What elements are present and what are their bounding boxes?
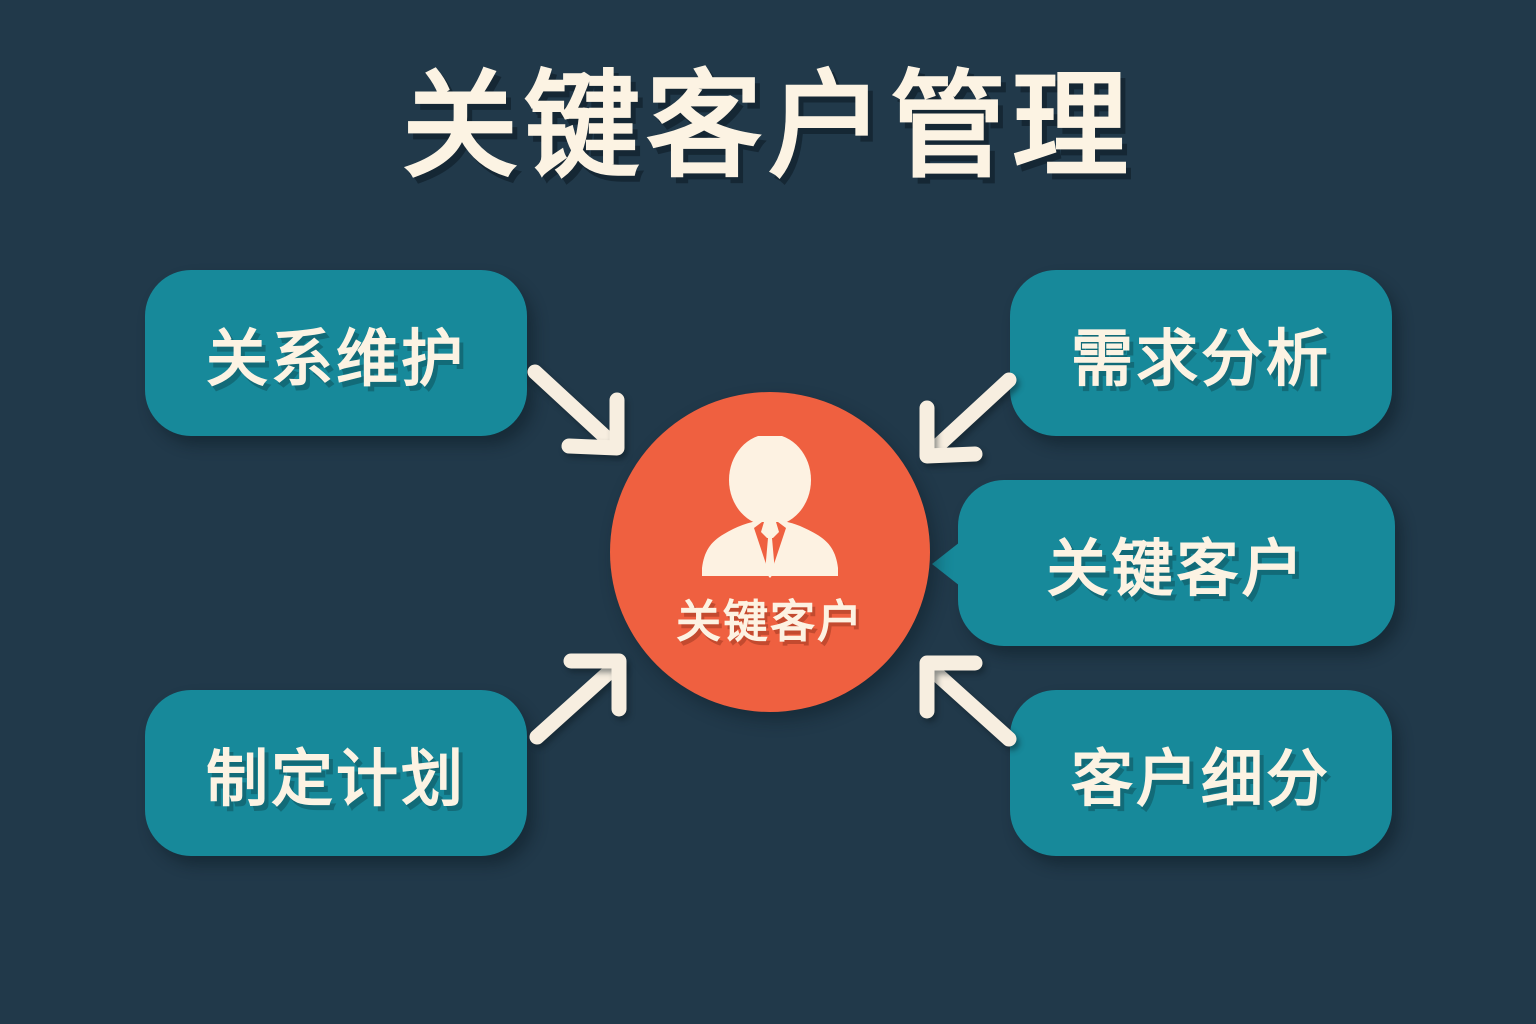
arrow-top-right-icon [905,372,1025,477]
businessperson-icon [680,436,860,586]
node-keyaccount-label: 关键客户 [1046,518,1306,608]
node-relationship-label: 关系维护 [206,308,466,398]
callout-tail-icon [932,542,960,586]
node-keyaccount[interactable]: 关键客户 [958,480,1395,646]
node-segment[interactable]: 客户细分 [1010,690,1392,856]
center-hub-label: 关键客户 [610,585,930,650]
node-relationship[interactable]: 关系维护 [145,270,527,436]
node-demand[interactable]: 需求分析 [1010,270,1392,436]
diagram-canvas: 关键客户管理 关系维护 需求分析 关键客户 制定计划 客户细分 关键客户 [0,0,1536,1024]
arrow-bottom-left-icon [525,645,645,750]
node-plan[interactable]: 制定计划 [145,690,527,856]
arrow-top-left-icon [525,362,645,467]
center-hub[interactable]: 关键客户 [610,392,930,712]
node-plan-label: 制定计划 [206,728,466,818]
node-segment-label: 客户细分 [1071,728,1331,818]
node-demand-label: 需求分析 [1071,308,1331,398]
arrow-bottom-right-icon [905,645,1025,750]
page-title: 关键客户管理 [0,54,1536,199]
